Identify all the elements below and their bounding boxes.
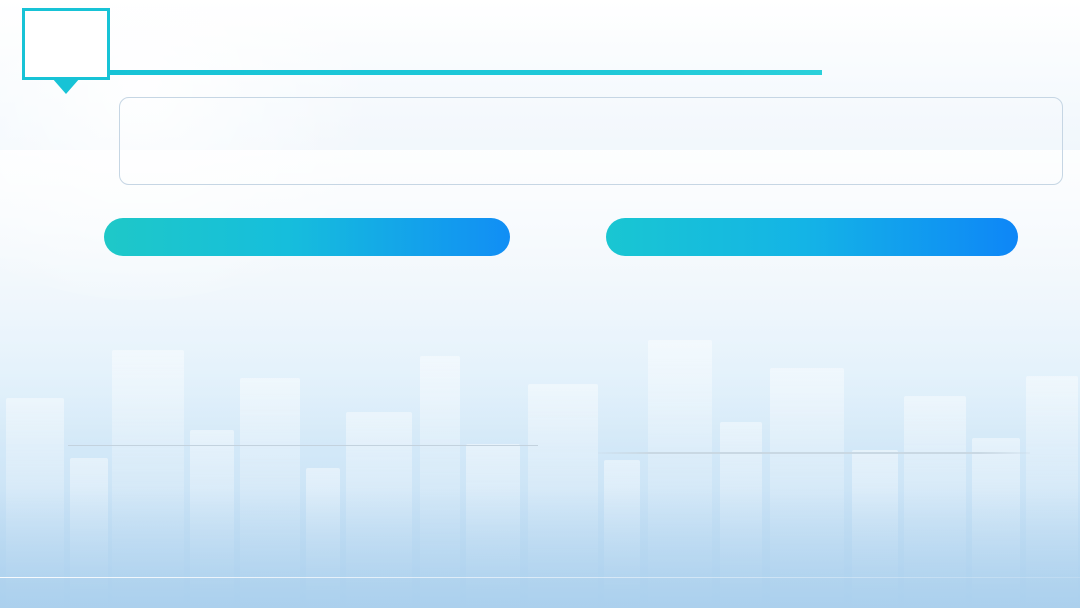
badge-pointer-triangle [52, 78, 80, 94]
bottom-gradient [0, 488, 1080, 608]
section-banner-right [606, 218, 1018, 256]
legend-item-winter [275, 290, 301, 293]
line-chart-plot-area [60, 297, 560, 452]
line-chart-svg [60, 297, 546, 447]
line-chart-panel [60, 278, 560, 478]
legend-swatch-summer [319, 290, 341, 293]
line-chart-legend [60, 290, 560, 293]
legend-item-summer [319, 290, 345, 293]
footer-divider [0, 577, 1080, 578]
bar-chart-columns [600, 304, 1030, 452]
bar-chart-baseline [598, 452, 1030, 454]
part-badge [22, 8, 110, 80]
bar-chart-panel [592, 272, 1040, 482]
legend-swatch-winter [275, 290, 297, 293]
line-chart-x-axis [68, 445, 538, 446]
title-underline-rule [100, 70, 822, 75]
intro-panel [119, 97, 1063, 185]
section-banner-left [104, 218, 510, 256]
